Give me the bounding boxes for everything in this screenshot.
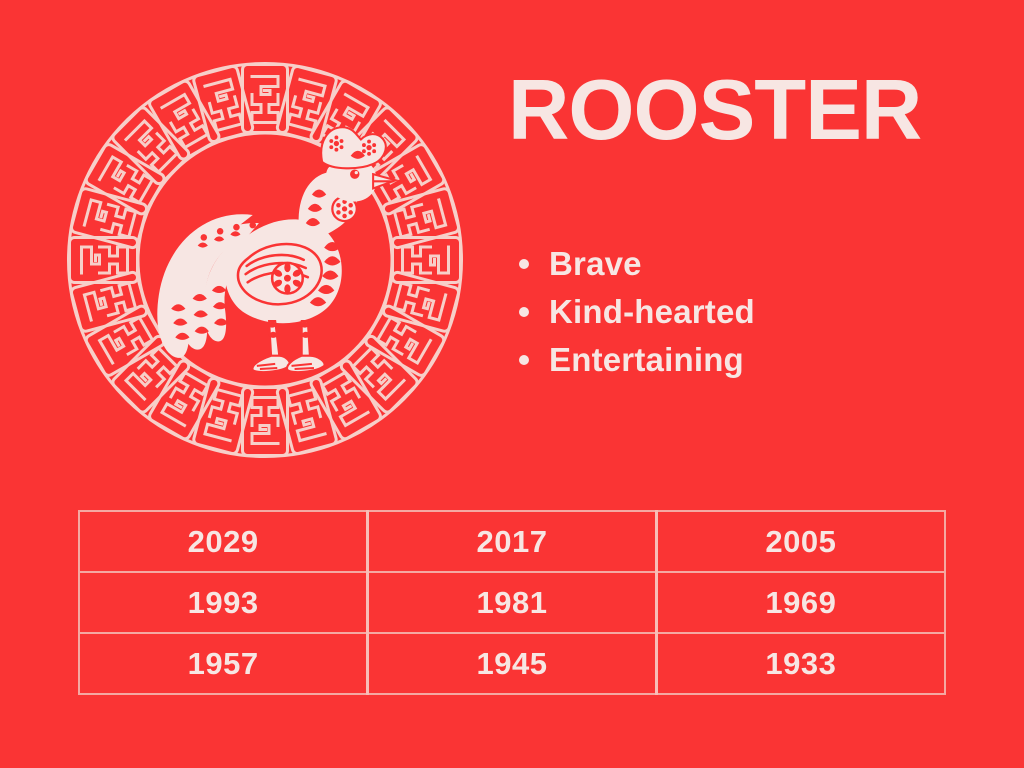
page-title: ROOSTER — [508, 68, 921, 153]
list-item: Brave — [519, 240, 755, 288]
bullet-icon — [519, 259, 529, 269]
trait-label: Kind-hearted — [549, 293, 755, 331]
year-cell: 1933 — [656, 633, 945, 694]
year-cell: 1993 — [79, 572, 368, 633]
list-item: Entertaining — [519, 336, 755, 384]
list-item: Kind-hearted — [519, 288, 755, 336]
bullet-icon — [519, 307, 529, 317]
table-row: 1957 1945 1933 — [79, 633, 945, 694]
year-cell: 1981 — [368, 572, 657, 633]
table-row: 2029 2017 2005 — [79, 511, 945, 572]
year-cell: 2017 — [368, 511, 657, 572]
year-cell: 1957 — [79, 633, 368, 694]
bullet-icon — [519, 355, 529, 365]
rooster-comb — [321, 127, 386, 168]
rooster-emblem — [67, 62, 463, 458]
table-row: 1993 1981 1969 — [79, 572, 945, 633]
wing-flower — [272, 263, 303, 294]
traits-list: Brave Kind-hearted Entertaining — [519, 240, 755, 384]
year-cell: 1945 — [368, 633, 657, 694]
year-cell: 2005 — [656, 511, 945, 572]
years-table: 2029 2017 2005 1993 1981 1969 1957 1945 … — [78, 510, 946, 695]
year-cell: 2029 — [79, 511, 368, 572]
year-cell: 1969 — [656, 572, 945, 633]
rooster-figure — [157, 127, 395, 372]
trait-label: Brave — [549, 245, 642, 283]
trait-label: Entertaining — [549, 341, 744, 379]
zodiac-slide: ROOSTER Brave Kind-hearted Entertaining … — [0, 0, 1024, 768]
rooster-eye — [350, 169, 359, 178]
